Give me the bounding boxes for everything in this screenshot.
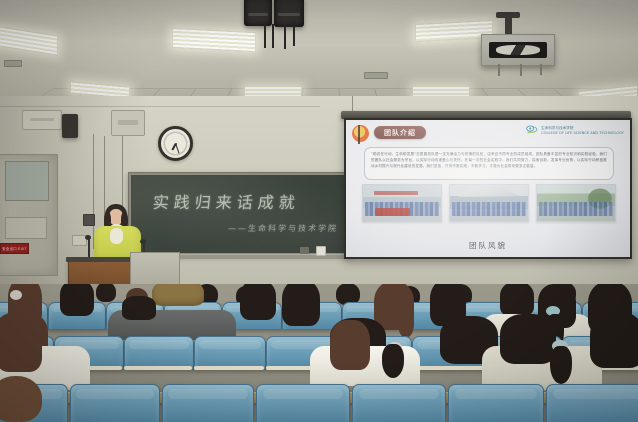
slide-sun-bar-decoration [358, 125, 360, 144]
clock-center [175, 143, 177, 145]
audience-hair [500, 284, 534, 316]
logo-text-en: COLLEGE OF LIFE SCIENCE AND TECHNOLOGY [541, 131, 624, 135]
slide-photo-2 [449, 184, 529, 222]
slide-body-text: “助农在行动，生科助发展”志愿服务队是一支充满活力与热情的队伍，由来自不同专业的… [371, 151, 607, 169]
microphone-head [85, 235, 91, 240]
blackboard-sub-text: ——生命科学与技术学院 [228, 223, 339, 234]
blackboard-surface: 实践归来话成就 ——生命科学与技术学院 [131, 175, 349, 253]
seat[interactable] [70, 384, 160, 422]
wall-clock [158, 126, 193, 161]
college-logo-icon [526, 125, 539, 136]
slide-title-pill: 团队介绍 [374, 126, 426, 139]
audience-hair [590, 312, 638, 368]
slide-photo-1 [362, 184, 442, 222]
seat[interactable] [194, 336, 266, 370]
seat[interactable] [448, 384, 544, 422]
photo1-top-banner [374, 191, 418, 195]
audience-hair [122, 296, 156, 320]
logo-text-block: 生命科学与技术学院 COLLEGE OF LIFE SCIENCE AND TE… [541, 126, 624, 135]
door-window [5, 161, 49, 201]
exit-sign: 安全出口 EXIT [0, 243, 29, 254]
projection-screen: 团队介绍 生命科学与技术学院 COLLEGE OF LIFE SCIENCE A… [346, 120, 630, 257]
audience-area [0, 284, 638, 422]
audience-head [0, 376, 42, 422]
slide-sun-decoration [352, 125, 369, 142]
audience-hair [282, 284, 320, 326]
ponytail [398, 310, 414, 338]
wall-control-box-right [111, 110, 145, 136]
microphone-head-2 [140, 239, 146, 244]
ceiling-shading [0, 0, 638, 104]
side-door[interactable] [0, 154, 58, 276]
wall-speaker [62, 114, 78, 138]
photo2-tent [458, 188, 520, 197]
ponytail [382, 344, 404, 378]
door-panel [5, 217, 47, 239]
audience-hair [60, 284, 94, 316]
blackboard-main-text: 实践归来话成就 [152, 189, 302, 213]
audience-hair [330, 320, 370, 370]
photo2-crowd [452, 202, 525, 216]
seat[interactable] [162, 384, 254, 422]
seat[interactable] [546, 384, 638, 422]
slide-photo-strip [362, 184, 616, 222]
audience-hat [152, 284, 204, 306]
audience-hair [500, 314, 556, 364]
slide-caption: 团队风貌 [346, 240, 630, 251]
slide-body-textbox: “助农在行动，生科助发展”志愿服务队是一支充满活力与热情的队伍，由来自不同专业的… [364, 147, 614, 180]
seat[interactable] [124, 336, 194, 370]
photo1-red-banner [375, 208, 409, 216]
ponytail [550, 346, 572, 384]
audience-head [96, 284, 116, 302]
presenter-collar [110, 228, 123, 244]
blackboard: 实践归来话成就 ——生命科学与技术学院 [128, 172, 352, 256]
lecture-hall-photo: 安全出口 EXIT 实践归来话成就 ——生命科学与技术学院 团队介绍 [0, 0, 638, 422]
slide-photo-3 [536, 184, 616, 222]
ceiling [0, 0, 638, 104]
seat[interactable] [352, 384, 446, 422]
blackboard-eraser[interactable] [300, 247, 309, 254]
slide-logo: 生命科学与技术学院 COLLEGE OF LIFE SCIENCE AND TE… [526, 125, 624, 136]
photo3-crowd [539, 202, 612, 216]
slide-title: 团队介绍 [384, 128, 416, 138]
tray-cup[interactable] [316, 246, 326, 256]
audience-hair [240, 284, 276, 320]
hair-clip [10, 290, 22, 300]
seat-armrest [412, 366, 484, 370]
exit-sign-label: 安全出口 EXIT [2, 246, 27, 251]
seat-armrest [194, 366, 264, 370]
presentation-slide: 团队介绍 生命科学与技术学院 COLLEGE OF LIFE SCIENCE A… [346, 120, 630, 257]
wall-control-box-left [22, 110, 62, 130]
seat-armrest [124, 366, 192, 370]
projection-screen-frame: 团队介绍 生命科学与技术学院 COLLEGE OF LIFE SCIENCE A… [344, 118, 632, 259]
audience-hair [0, 318, 42, 372]
podium-top-surface [66, 257, 132, 262]
front-wall: 安全出口 EXIT 实践归来话成就 ——生命科学与技术学院 团队介绍 [0, 96, 638, 296]
seat[interactable] [256, 384, 350, 422]
